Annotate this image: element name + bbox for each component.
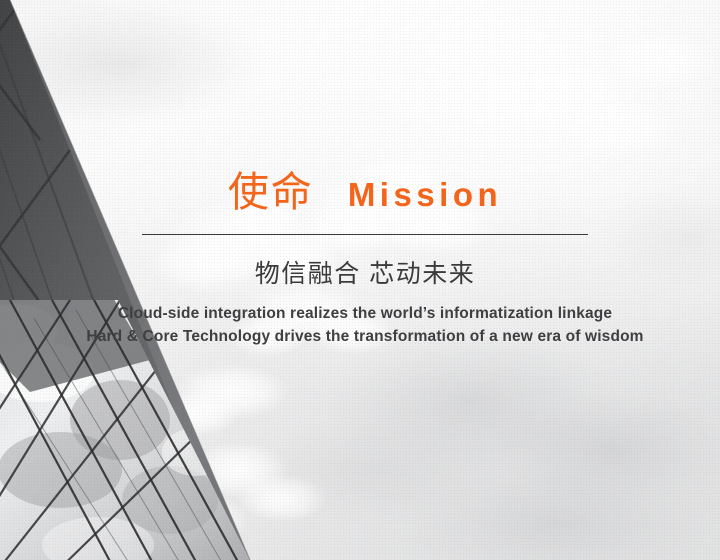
headline-chinese: 使命 (228, 172, 314, 213)
headline: 使命 Mission (142, 172, 588, 213)
subtitle-english-block: Cloud-side integration realizes the worl… (60, 302, 670, 348)
headline-divider (142, 234, 588, 235)
subtitle-chinese: 物信融合 芯动未来 (142, 258, 588, 290)
banner-content: 使命 Mission 物信融合 芯动未来 Cloud-side integrat… (0, 0, 720, 560)
mission-banner: 使命 Mission 物信融合 芯动未来 Cloud-side integrat… (0, 0, 720, 560)
subtitle-english-line-2: Hard & Core Technology drives the transf… (60, 325, 670, 348)
headline-english: Mission (348, 178, 502, 211)
subtitle-english-line-1: Cloud-side integration realizes the worl… (60, 302, 670, 325)
